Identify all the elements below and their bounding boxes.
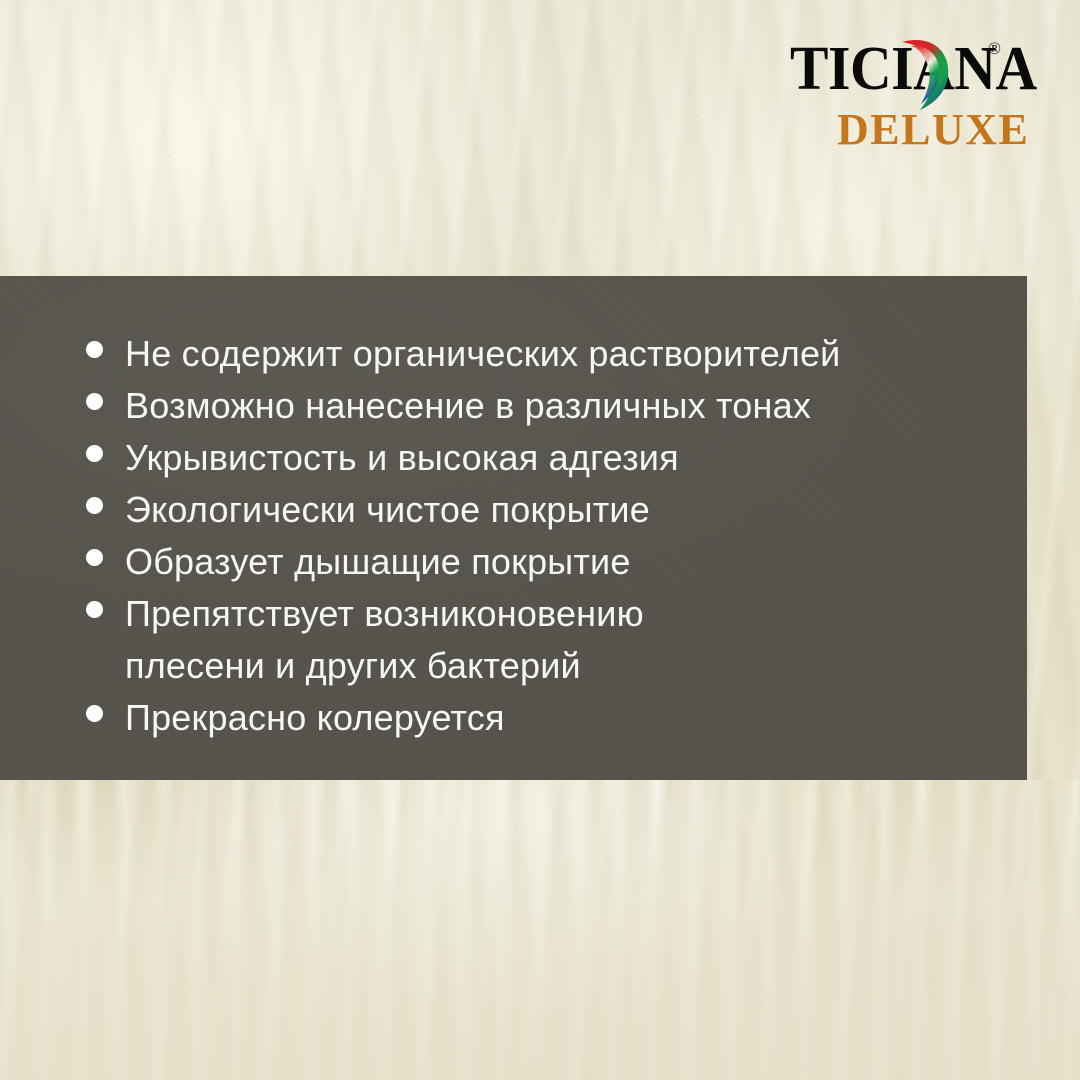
feature-list-item: плесени и других бактерий	[86, 640, 997, 692]
registered-trademark-icon: ®	[988, 40, 1001, 57]
feature-list-item: Возможно нанесение в различных тонах	[86, 380, 997, 432]
feature-list-item: Прекрасно колеруется	[86, 692, 997, 744]
feature-text: плесени и других бактерий	[125, 640, 581, 692]
feature-text: Не содержит органических растворителей	[125, 328, 840, 380]
feature-list-item: Укрывистость и высокая адгезия	[86, 432, 997, 484]
feature-text: Препятствует возниконовению	[125, 588, 644, 640]
feature-text: Экологически чистое покрытие	[125, 484, 650, 536]
bullet-dot-icon	[86, 549, 103, 566]
feature-text: Прекрасно колеруется	[125, 692, 505, 744]
feature-list-item: Образует дышащие покрытие	[86, 536, 997, 588]
bullet-dot-icon	[86, 445, 103, 462]
brand-logo: TICIANA ®	[790, 38, 1040, 158]
bullet-dot-placeholder	[86, 653, 103, 670]
feature-list-item: Не содержит органических растворителей	[86, 328, 997, 380]
bullet-dot-icon	[86, 393, 103, 410]
feature-text: Укрывистость и высокая адгезия	[125, 432, 679, 484]
feature-list: Не содержит органических растворителейВо…	[86, 328, 997, 744]
bullet-dot-icon	[86, 497, 103, 514]
bullet-dot-icon	[86, 601, 103, 618]
bullet-dot-icon	[86, 705, 103, 722]
brand-wordmark-group: TICIANA	[790, 38, 1055, 100]
feature-panel: Не содержит органических растворителейВо…	[0, 276, 1027, 780]
bullet-dot-icon	[86, 341, 103, 358]
brand-subtitle: DELUXE	[837, 108, 1029, 152]
background-sheen-layer	[0, 780, 1080, 1080]
feature-text: Возможно нанесение в различных тонах	[125, 380, 811, 432]
poster-canvas: TICIANA ®	[0, 0, 1080, 1080]
feature-list-item: Препятствует возниконовению	[86, 588, 997, 640]
feature-text: Образует дышащие покрытие	[125, 536, 631, 588]
feature-list-item: Экологически чистое покрытие	[86, 484, 997, 536]
